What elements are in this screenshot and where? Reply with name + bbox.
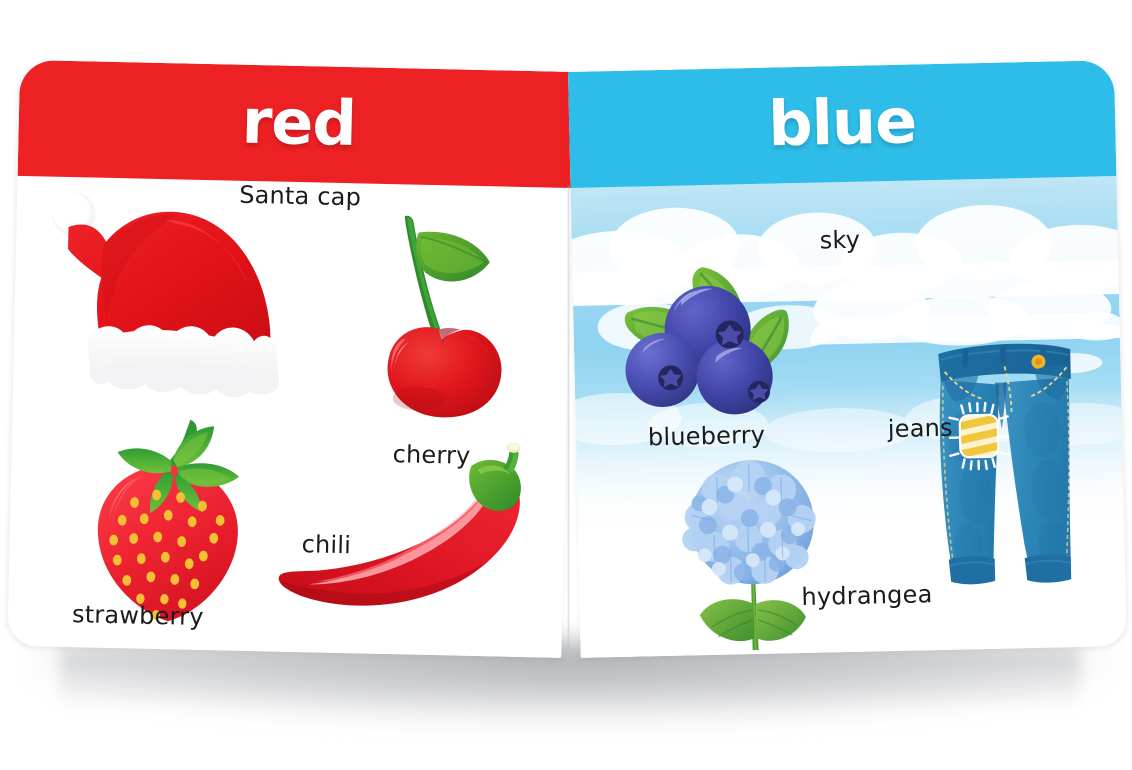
- page-blue-header-band: blue: [568, 60, 1116, 188]
- label-santa-cap: Santa cap: [239, 183, 361, 210]
- page-red-header-band: red: [18, 60, 574, 188]
- book-contact-shadow: [60, 648, 1080, 710]
- hydrangea-icon: [662, 452, 846, 656]
- page-title-blue: blue: [569, 86, 1116, 160]
- jeans-icon: [928, 317, 1088, 602]
- label-jeans: jeans: [888, 416, 953, 441]
- cherry-icon: [378, 202, 531, 429]
- label-blueberry: blueberry: [648, 423, 766, 450]
- page-red[interactable]: red: [7, 60, 574, 658]
- blueberry-icon: [606, 251, 810, 433]
- book-gutter: [567, 186, 570, 656]
- label-strawberry: strawberry: [72, 602, 204, 629]
- label-hydrangea: hydrangea: [801, 582, 932, 609]
- label-chili: chili: [301, 532, 351, 557]
- santa-cap-icon: [43, 187, 318, 405]
- book-spread-stage: red: [0, 0, 1132, 770]
- page-title-red: red: [18, 86, 573, 160]
- label-sky: sky: [819, 228, 860, 253]
- page-blue[interactable]: blue sky: [568, 60, 1127, 658]
